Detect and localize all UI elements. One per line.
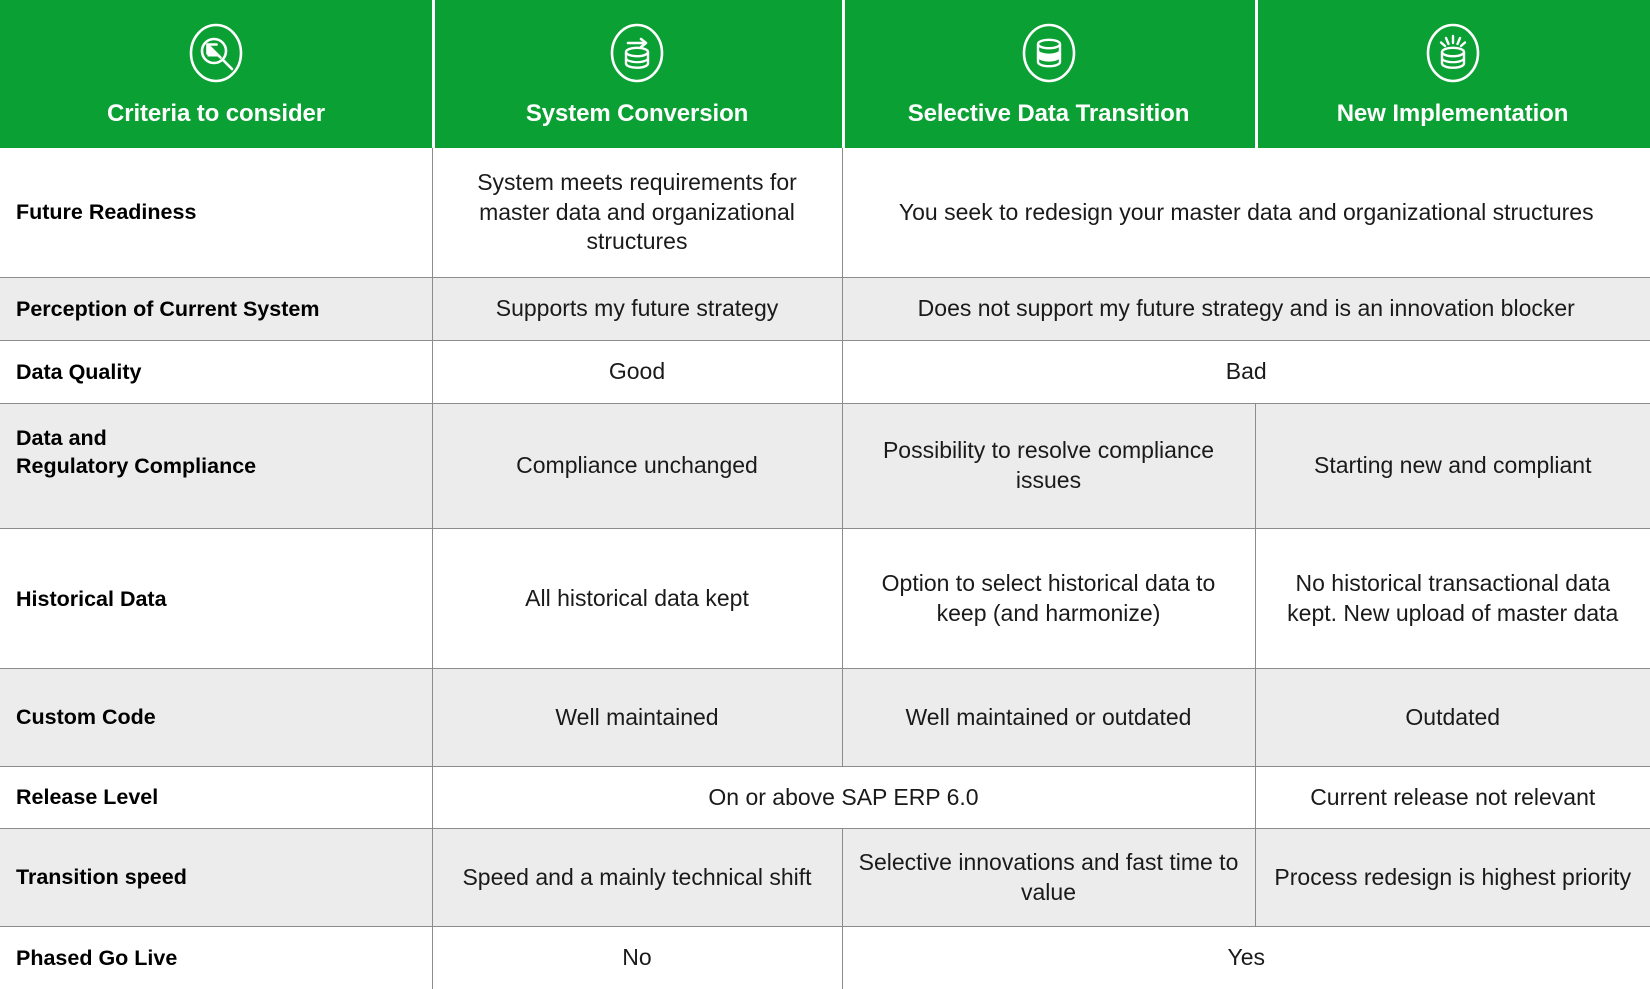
cell-new-implementation: Current release not relevant xyxy=(1255,766,1650,829)
cell-system-conversion: System meets requirements for master dat… xyxy=(432,148,842,278)
comparison-table-container: Criteria to consider xyxy=(0,0,1650,989)
criteria-label: Historical Data xyxy=(0,528,432,669)
database-arrow-icon xyxy=(606,22,668,84)
table-row: Historical Data All historical data kept… xyxy=(0,528,1650,669)
table-row: Data Quality Good Bad xyxy=(0,340,1650,403)
database-partial-icon xyxy=(1018,22,1080,84)
table-row: Custom Code Well maintained Well maintai… xyxy=(0,669,1650,766)
database-sparkle-icon xyxy=(1422,22,1484,84)
criteria-label: Transition speed xyxy=(0,829,432,926)
cell-new-implementation: Starting new and compliant xyxy=(1255,403,1650,528)
header-label-new-implementation: New Implementation xyxy=(1337,100,1569,128)
table-row: Future Readiness System meets requiremen… xyxy=(0,148,1650,278)
criteria-label-line1: Data and xyxy=(16,424,418,452)
cell-selective-data-transition: Option to select historical data to keep… xyxy=(842,528,1255,669)
table-row: Phased Go Live No Yes xyxy=(0,926,1650,989)
table-header: Criteria to consider xyxy=(0,0,1650,148)
criteria-label: Phased Go Live xyxy=(0,926,432,989)
cell-merged-selective-new: Bad xyxy=(842,340,1650,403)
cell-system-conversion: Well maintained xyxy=(432,669,842,766)
table-row: Release Level On or above SAP ERP 6.0 Cu… xyxy=(0,766,1650,829)
cell-system-conversion: Speed and a mainly technical shift xyxy=(432,829,842,926)
cell-merged-selective-new: Yes xyxy=(842,926,1650,989)
cell-selective-data-transition: Well maintained or outdated xyxy=(842,669,1255,766)
magnifier-arrow-icon xyxy=(185,22,247,84)
cell-merged-conversion-selective: On or above SAP ERP 6.0 xyxy=(432,766,1255,829)
table-body: Future Readiness System meets requiremen… xyxy=(0,148,1650,989)
header-label-criteria: Criteria to consider xyxy=(107,100,325,128)
criteria-label-line2: Regulatory Compliance xyxy=(16,452,418,480)
table-row: Transition speed Speed and a mainly tech… xyxy=(0,829,1650,926)
cell-selective-data-transition: Possibility to resolve compliance issues xyxy=(842,403,1255,528)
header-cell-system-conversion: System Conversion xyxy=(432,0,842,148)
header-cell-new-implementation: New Implementation xyxy=(1255,0,1650,148)
table-row: Perception of Current System Supports my… xyxy=(0,278,1650,341)
transition-options-comparison-table: Criteria to consider xyxy=(0,0,1650,989)
cell-system-conversion: All historical data kept xyxy=(432,528,842,669)
table-row: Data and Regulatory Compliance Complianc… xyxy=(0,403,1650,528)
cell-system-conversion: Supports my future strategy xyxy=(432,278,842,341)
criteria-label: Data and Regulatory Compliance xyxy=(0,403,432,528)
criteria-label: Custom Code xyxy=(0,669,432,766)
cell-merged-selective-new: You seek to redesign your master data an… xyxy=(842,148,1650,278)
cell-system-conversion: No xyxy=(432,926,842,989)
cell-new-implementation: Outdated xyxy=(1255,669,1650,766)
header-cell-criteria: Criteria to consider xyxy=(0,0,432,148)
criteria-label: Release Level xyxy=(0,766,432,829)
cell-merged-selective-new: Does not support my future strategy and … xyxy=(842,278,1650,341)
cell-new-implementation: No historical transactional data kept. N… xyxy=(1255,528,1650,669)
header-cell-selective-data-transition: Selective Data Transition xyxy=(842,0,1255,148)
cell-new-implementation: Process redesign is highest priority xyxy=(1255,829,1650,926)
header-label-selective-data-transition: Selective Data Transition xyxy=(908,100,1190,128)
cell-selective-data-transition: Selective innovations and fast time to v… xyxy=(842,829,1255,926)
cell-system-conversion: Compliance unchanged xyxy=(432,403,842,528)
header-label-system-conversion: System Conversion xyxy=(526,100,748,128)
criteria-label: Data Quality xyxy=(0,340,432,403)
criteria-label: Future Readiness xyxy=(0,148,432,278)
criteria-label: Perception of Current System xyxy=(0,278,432,341)
cell-system-conversion: Good xyxy=(432,340,842,403)
header-row: Criteria to consider xyxy=(0,0,1650,148)
